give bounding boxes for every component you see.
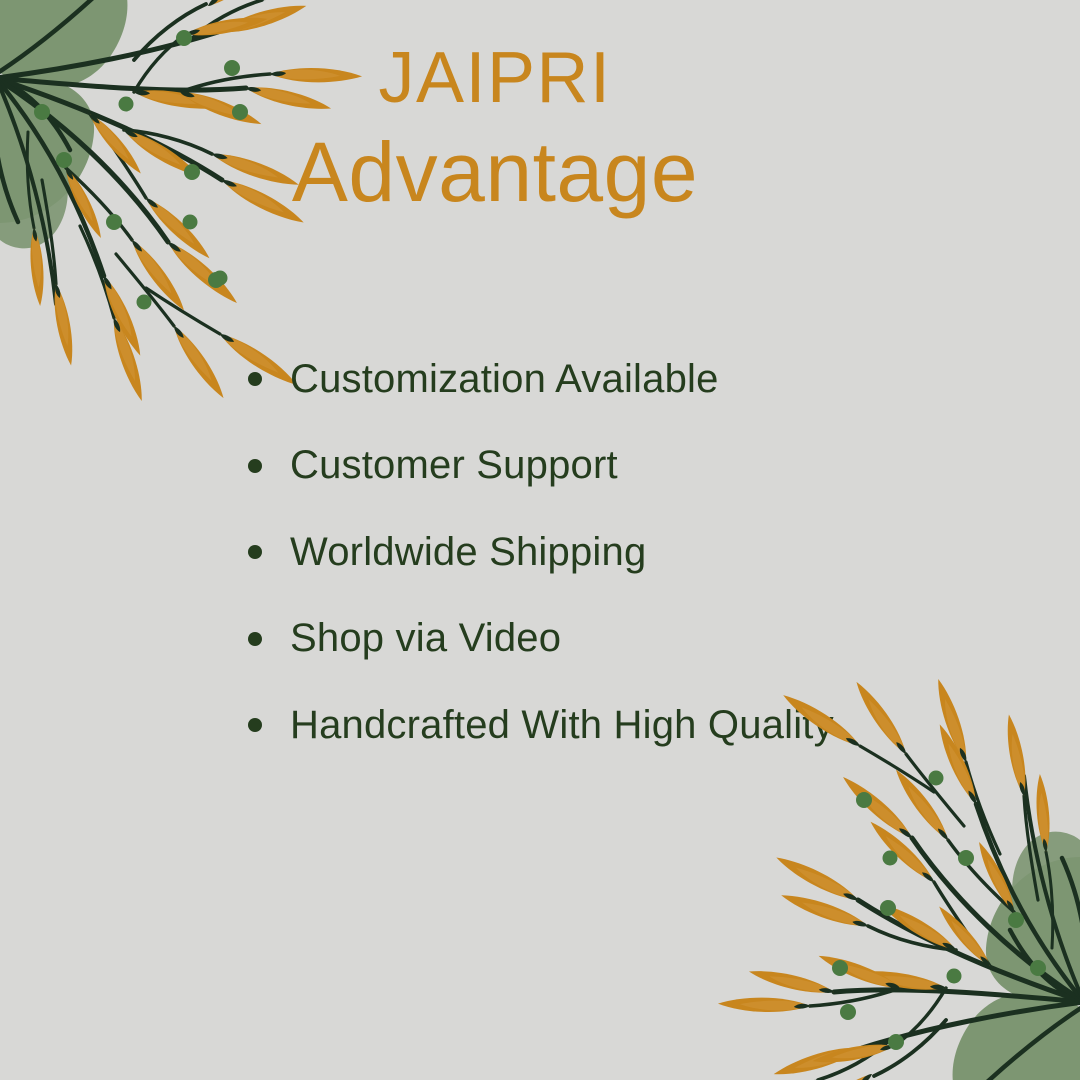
sage-leaf-cluster — [0, 0, 127, 248]
brand-name: JAIPRI — [245, 42, 745, 114]
feature-label: Customer Support — [290, 443, 618, 488]
feature-label: Worldwide Shipping — [290, 530, 646, 575]
brand-subtitle: Advantage — [245, 130, 745, 214]
feature-label: Shop via Video — [290, 616, 561, 661]
feature-list: Customization Available Customer Support… — [248, 336, 1068, 769]
bullet-dot-icon — [248, 545, 262, 559]
bullet-dot-icon — [248, 632, 262, 646]
bullet-dot-icon — [248, 718, 262, 732]
berry-dots — [34, 30, 248, 310]
branch-stems — [0, 0, 270, 334]
feature-label: Handcrafted With High Quality — [290, 703, 834, 748]
list-item: Shop via Video — [248, 596, 1068, 683]
branch-stems — [810, 746, 1080, 1080]
list-item: Customer Support — [248, 423, 1068, 510]
poster-canvas: JAIPRI Advantage Customization Available… — [0, 0, 1080, 1080]
list-item: Handcrafted With High Quality — [248, 682, 1068, 769]
bullet-dot-icon — [248, 372, 262, 386]
list-item: Worldwide Shipping — [248, 509, 1068, 596]
sage-leaf-cluster — [953, 832, 1080, 1080]
list-item: Customization Available — [248, 336, 1068, 423]
berry-dots — [832, 771, 1046, 1051]
page-title: JAIPRI Advantage — [245, 42, 745, 214]
bullet-dot-icon — [248, 459, 262, 473]
feature-label: Customization Available — [290, 357, 719, 402]
